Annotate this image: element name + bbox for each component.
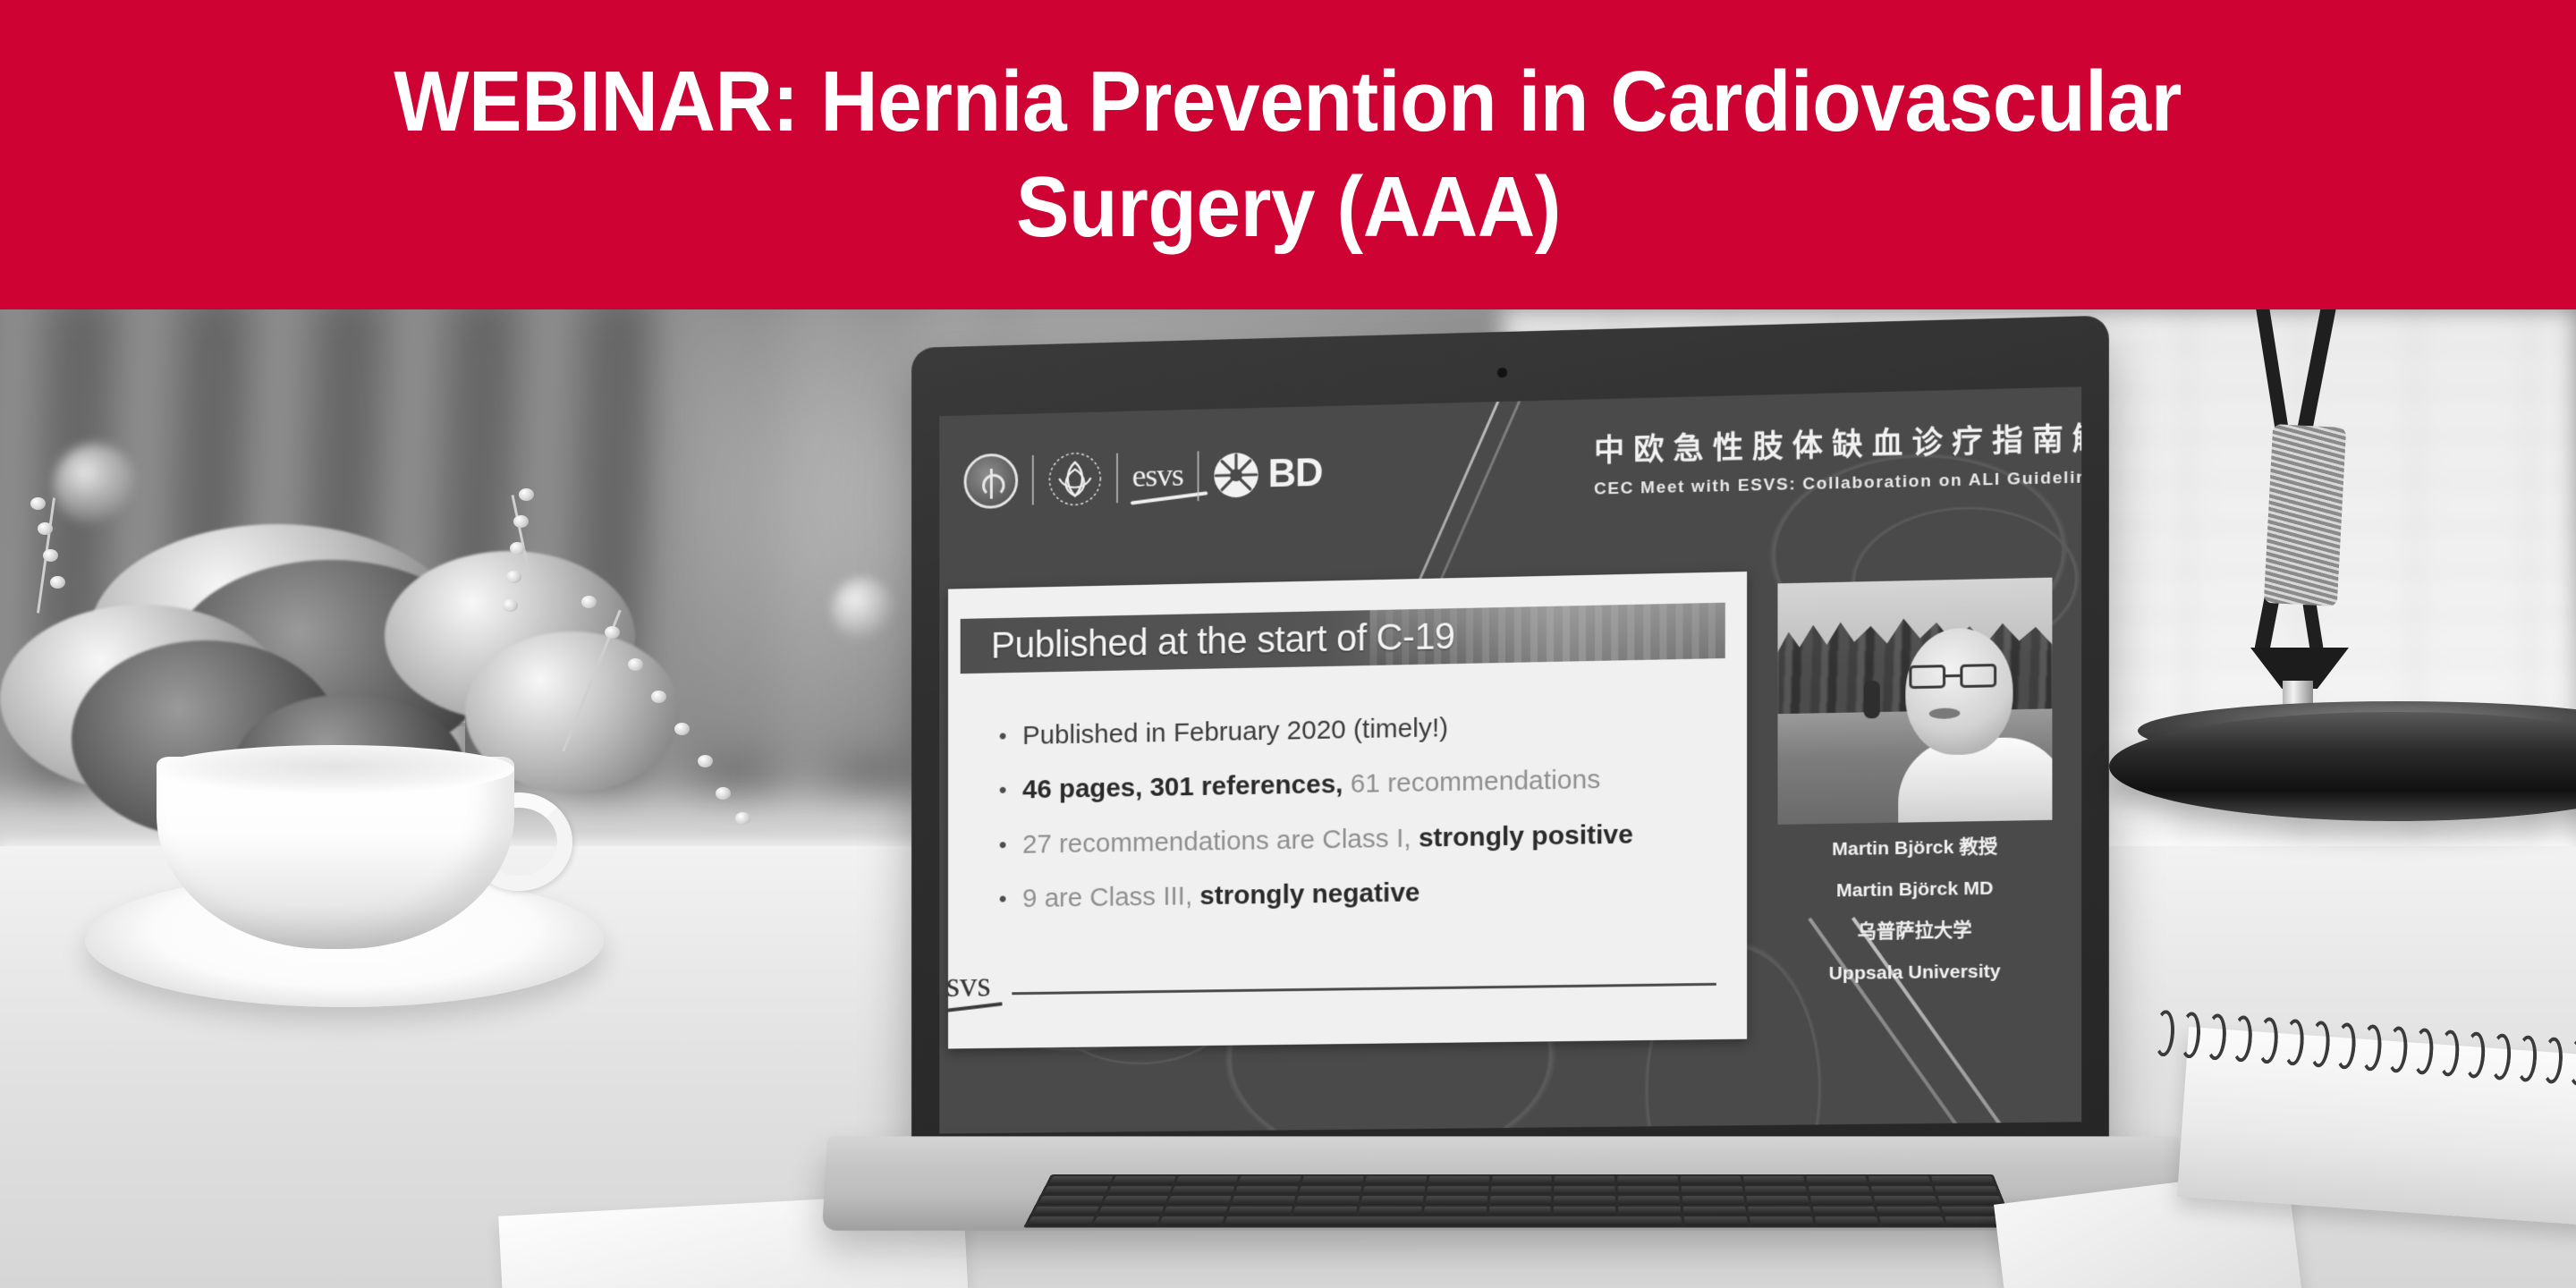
slide-bullet-item: • 46 pages, 301 references, 61 recommend… xyxy=(999,762,1729,807)
presentation-slide: Published at the start of C-19 • Publish… xyxy=(948,572,1747,1049)
laptop-screen: esvs xyxy=(939,386,2081,1133)
speaker-glasses xyxy=(1909,664,1996,689)
speaker-name-chinese: Martin Björck 教授 xyxy=(1777,836,2052,860)
bullet-text: Published in February 2020 (timely!) xyxy=(1022,713,1448,750)
bullet-marker: • xyxy=(999,775,1007,806)
slide-bullet-item: • 27 recommendations are Class I, strong… xyxy=(999,818,1729,861)
bullet-text: strongly negative xyxy=(1192,878,1419,911)
webinar-promo-image: WEBINAR: Hernia Prevention in Cardiovasc… xyxy=(0,0,2576,1288)
desk-photo-scene: esvs xyxy=(0,309,2576,1288)
esvs-logo: esvs xyxy=(1132,459,1183,496)
lamp-spring xyxy=(2264,424,2346,606)
bullet-marker: • xyxy=(999,721,1007,752)
speaker-panel: Martin Björck 教授 Martin Björck MD 乌普萨拉大学… xyxy=(1765,564,2064,1038)
laptop: esvs xyxy=(805,309,2200,1288)
slide-bullet-item: • Published in February 2020 (timely!) xyxy=(999,707,1729,752)
speaker-affiliation-chinese: 乌普萨拉大学 xyxy=(1777,919,2052,944)
bd-wordmark: BD xyxy=(1268,451,1323,496)
esvs-footer-logo: esvs xyxy=(948,967,991,1008)
bullet-text: 9 are Class III, xyxy=(1022,882,1192,914)
china-endovascular-congress-icon xyxy=(1047,451,1102,507)
speaker-name-english: Martin Björck MD xyxy=(1777,878,2052,902)
slide-title-band: Published at the start of C-19 xyxy=(961,603,1725,674)
bullet-text: 61 recommendations xyxy=(1343,765,1600,799)
banner-title-line-2: Surgery (AAA) xyxy=(1015,161,1560,254)
logo-divider xyxy=(1032,455,1034,504)
slide-bullet-list: • Published in February 2020 (timely!) •… xyxy=(999,707,1729,938)
laptop-lid: esvs xyxy=(911,316,2109,1170)
bullet-text: 46 pages, 301 references, xyxy=(1022,770,1343,805)
banner-title-line-1: WEBINAR: Hernia Prevention in Cardiovasc… xyxy=(394,55,2182,148)
plant-sprig xyxy=(0,497,152,676)
slide-bullet-item: • 9 are Class III, strongly negative xyxy=(999,872,1729,915)
desk-lamp xyxy=(2039,309,2576,971)
logo-divider xyxy=(1116,453,1118,504)
cup-rim xyxy=(157,745,514,793)
presentation-header: esvs xyxy=(939,386,2081,568)
sponsor-logo-row: esvs xyxy=(964,445,1323,509)
speaker-video-feed xyxy=(1777,578,2052,825)
plant-sprig xyxy=(519,488,680,667)
bd-logo: BD xyxy=(1213,450,1322,499)
bd-starburst-icon xyxy=(1213,452,1258,499)
presentation-title-block: 中欧急性肢体缺血诊疗指南解读 CEC Meet with ESVS: Colla… xyxy=(1594,413,2081,500)
laptop-keyboard xyxy=(1023,1174,2014,1227)
webinar-title-banner: WEBINAR: Hernia Prevention in Cardiovasc… xyxy=(0,0,2576,309)
chinese-medical-seal-icon xyxy=(964,453,1019,509)
bullet-text: strongly positive xyxy=(1411,819,1633,852)
speaker-affiliation-english: Uppsala University xyxy=(1777,962,2052,985)
slide-footer: esvs xyxy=(953,957,1716,1008)
bullet-marker: • xyxy=(999,829,1007,860)
logo-divider xyxy=(1198,451,1199,501)
presentation-title-chinese: 中欧急性肢体缺血诊疗指南解读 xyxy=(1594,413,2081,471)
webcam-icon xyxy=(1497,368,1507,377)
speaker-head xyxy=(1905,627,2012,756)
speaker-caption: Martin Björck 教授 Martin Björck MD 乌普萨拉大学… xyxy=(1777,836,2052,1006)
headset-icon xyxy=(1864,681,1880,719)
footer-divider-line xyxy=(1012,983,1716,995)
bullet-text: 27 recommendations are Class I, xyxy=(1022,823,1411,859)
bullet-marker: • xyxy=(999,884,1007,915)
